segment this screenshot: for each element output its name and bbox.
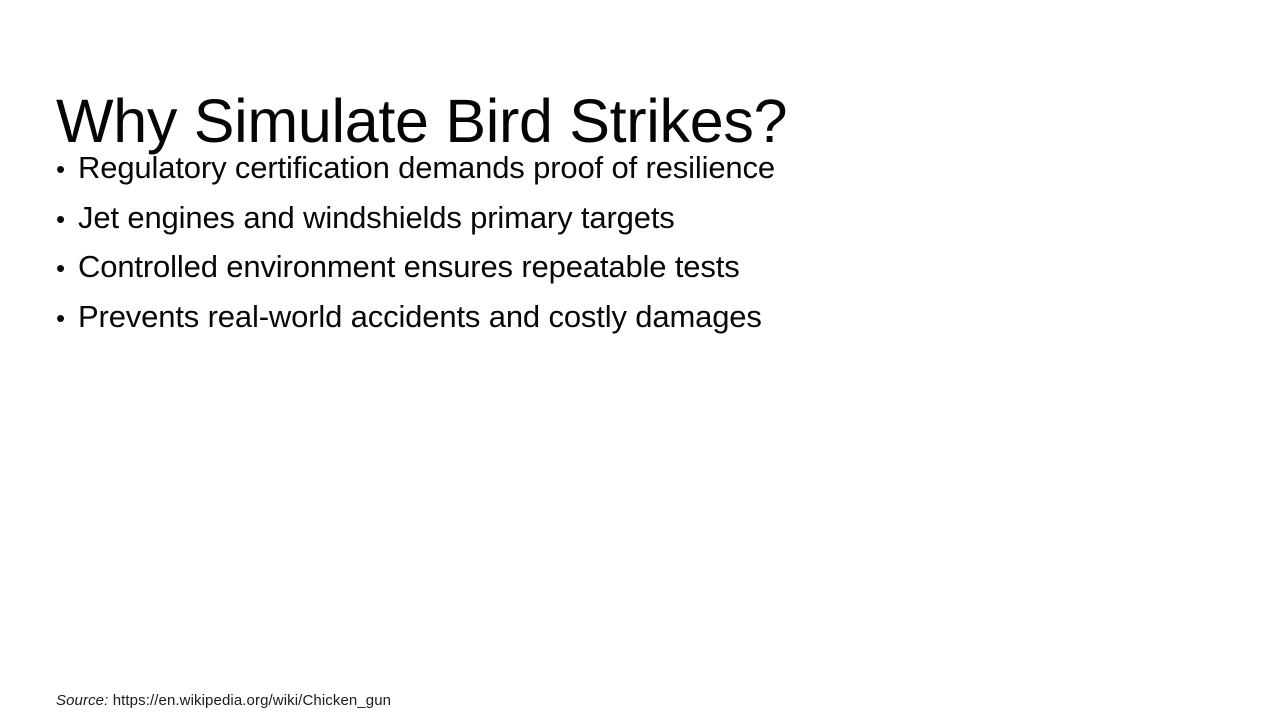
bullet-dot-icon: • — [56, 146, 78, 194]
list-item: • Jet engines and windshields primary ta… — [56, 194, 1056, 244]
source-citation: Source: https://en.wikipedia.org/wiki/Ch… — [56, 692, 391, 709]
list-item: • Prevents real-world accidents and cost… — [56, 293, 1056, 343]
bullet-list: • Regulatory certification demands proof… — [56, 144, 1056, 342]
source-label: Source: — [56, 692, 108, 709]
list-item-label: Regulatory certification demands proof o… — [78, 144, 775, 192]
source-url: https://en.wikipedia.org/wiki/Chicken_gu… — [113, 692, 391, 709]
list-item-label: Jet engines and windshields primary targ… — [78, 194, 675, 242]
list-item-label: Prevents real-world accidents and costly… — [78, 293, 762, 341]
bullet-dot-icon: • — [56, 245, 78, 293]
presentation-slide: Why Simulate Bird Strikes? • Regulatory … — [0, 0, 1280, 720]
list-item-label: Controlled environment ensures repeatabl… — [78, 243, 740, 291]
bullet-dot-icon: • — [56, 295, 78, 343]
list-item: • Regulatory certification demands proof… — [56, 144, 1056, 194]
bullet-dot-icon: • — [56, 196, 78, 244]
list-item: • Controlled environment ensures repeata… — [56, 243, 1056, 293]
